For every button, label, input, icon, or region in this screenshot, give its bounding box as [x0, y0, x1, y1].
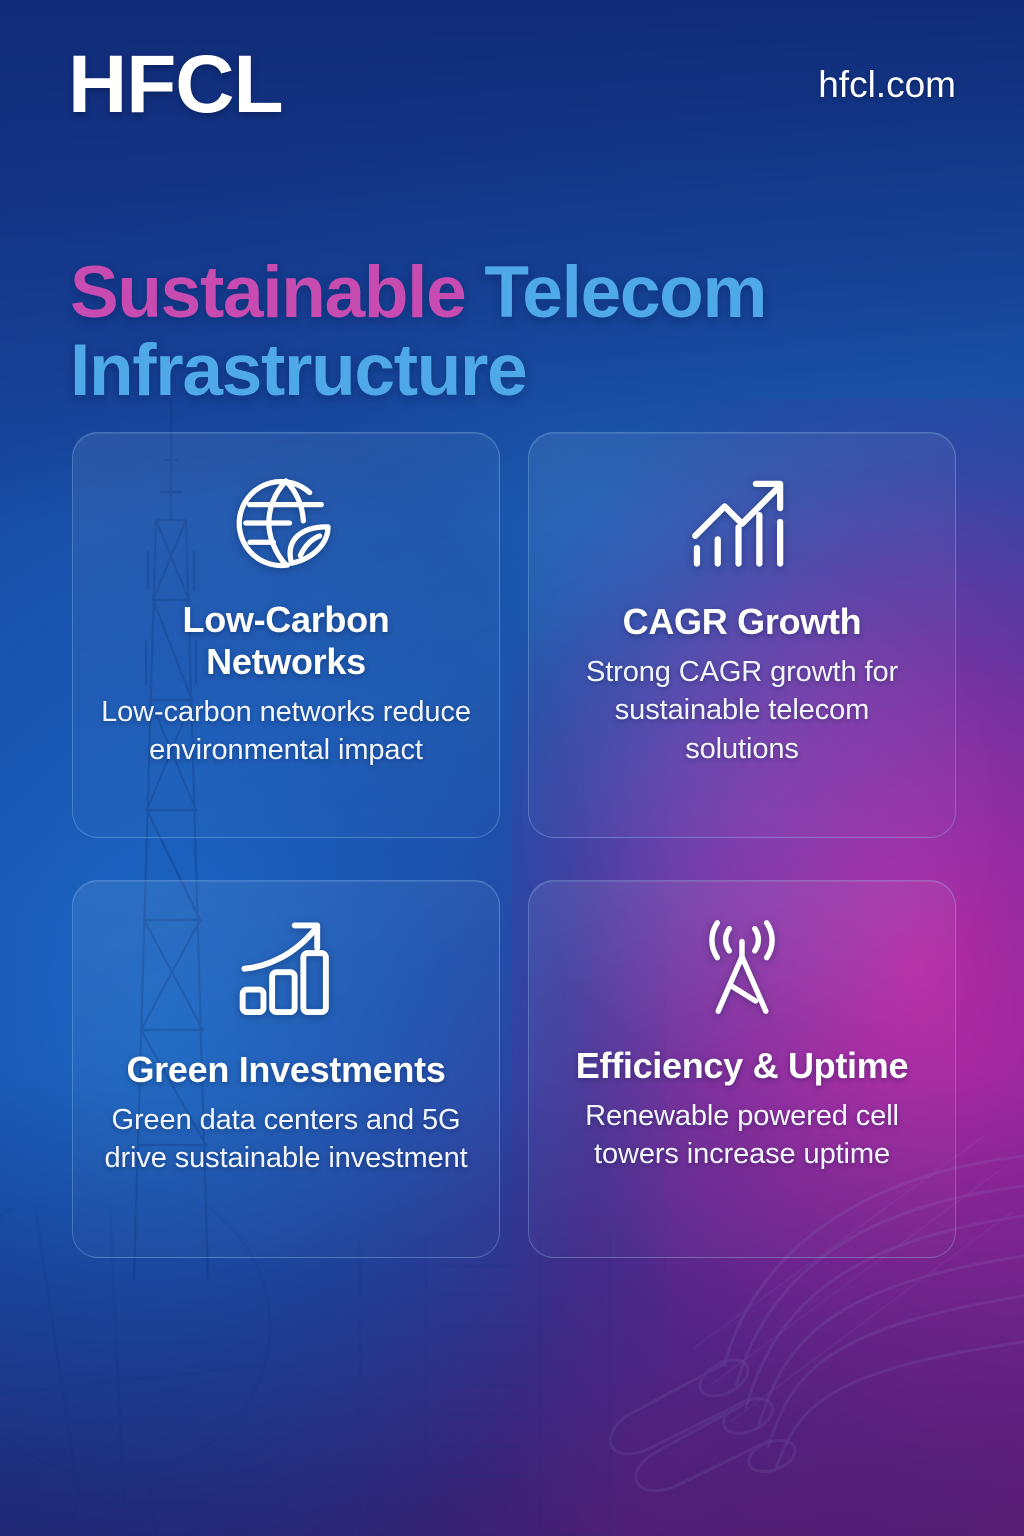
feature-card-efficiency-uptime[interactable]: Efficiency & Uptime Renewable powered ce…	[528, 880, 956, 1258]
card-title: Green Investments	[126, 1049, 445, 1091]
feature-card-cagr-growth[interactable]: CAGR Growth Strong CAGR growth for susta…	[528, 432, 956, 838]
globe-leaf-icon	[230, 463, 342, 583]
headline-line-two: Infrastructure	[70, 330, 526, 411]
card-title: CAGR Growth	[623, 601, 862, 643]
headline-highlight-pink: Sustainable	[70, 252, 484, 333]
cell-tower-signal-icon	[691, 911, 793, 1023]
headline-word-telecom: Telecom	[484, 252, 766, 333]
card-title: Low-Carbon Networks	[99, 599, 473, 683]
card-description: Green data centers and 5G drive sustaina…	[99, 1101, 473, 1178]
infographic-poster: HFCL hfcl.com Sustainable TelecomInfrast…	[0, 0, 1024, 1536]
hfcl-logo: HFCL	[68, 46, 283, 124]
card-title: Efficiency & Uptime	[576, 1045, 908, 1087]
card-description: Strong CAGR growth for sustainable telec…	[555, 653, 929, 769]
poster-content: HFCL hfcl.com Sustainable TelecomInfrast…	[0, 0, 1024, 1536]
card-description: Low-carbon networks reduce environmental…	[99, 693, 473, 770]
card-description: Renewable powered cell towers increase u…	[555, 1097, 929, 1174]
page-title: Sustainable TelecomInfrastructure	[70, 254, 964, 410]
feature-card-low-carbon-networks[interactable]: Low-Carbon Networks Low-carbon networks …	[72, 432, 500, 838]
bar-chart-arrow-icon	[686, 463, 798, 581]
feature-card-green-investments[interactable]: Green Investments Green data centers and…	[72, 880, 500, 1258]
growth-bars-curve-arrow-icon	[234, 911, 338, 1023]
poster-header: HFCL hfcl.com	[68, 46, 956, 124]
feature-card-grid: Low-Carbon Networks Low-carbon networks …	[72, 432, 956, 1258]
website-url[interactable]: hfcl.com	[818, 46, 956, 103]
